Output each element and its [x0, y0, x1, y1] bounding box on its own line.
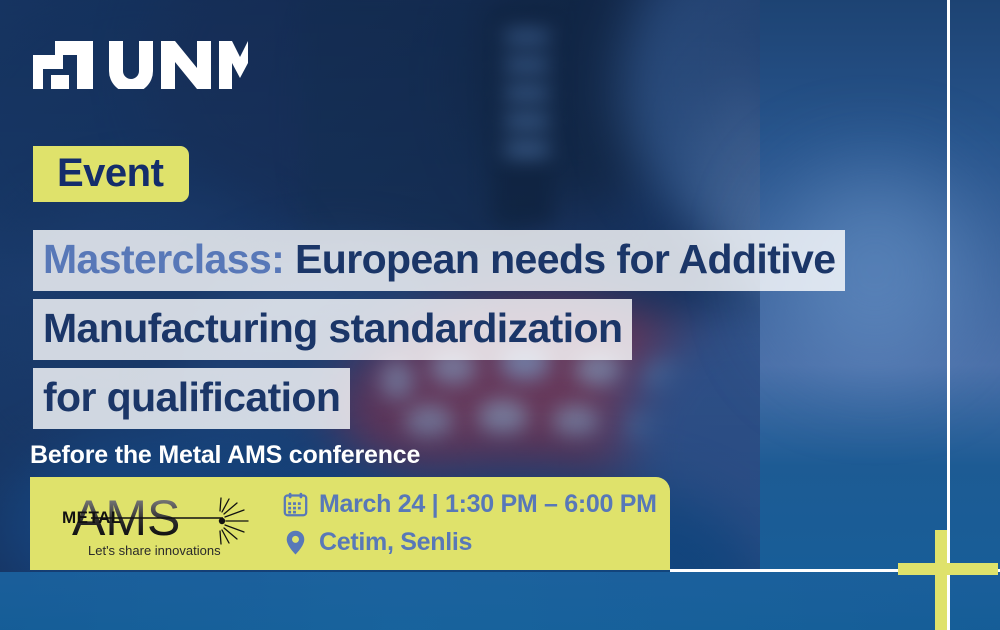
svg-text:Let's share innovations: Let's share innovations — [88, 543, 221, 558]
calendar-icon — [280, 490, 310, 520]
event-info: March 24 | 1:30 PM – 6:00 PM Cetim, Senl… — [280, 488, 657, 564]
headline-line-3: for qualification — [33, 368, 350, 429]
event-banner: Event Masterclass: European needs for Ad… — [0, 0, 1000, 630]
headline-accent: Masterclass: — [43, 236, 284, 282]
details-bar: AMS METAL Let's share innovations — [30, 477, 670, 570]
event-date-time: March 24 | 1:30 PM – 6:00 PM — [319, 490, 657, 519]
unm-logo — [33, 41, 248, 89]
headline-line-2: Manufacturing standardization — [33, 299, 632, 360]
headline: Masterclass: European needs for Additive… — [33, 230, 933, 437]
headline-line-1: Masterclass: European needs for Additive — [33, 230, 845, 291]
bottom-band — [0, 572, 1000, 630]
metal-ams-logo: AMS METAL Let's share innovations — [58, 483, 258, 563]
subtitle: Before the Metal AMS conference — [30, 441, 420, 470]
plus-mark-horizontal — [898, 563, 998, 575]
vertical-rule — [947, 0, 950, 630]
event-badge: Event — [33, 146, 189, 202]
info-row-date: March 24 | 1:30 PM – 6:00 PM — [280, 488, 657, 521]
event-location: Cetim, Senlis — [319, 528, 472, 557]
headline-line-1-rest: European needs for Additive — [284, 236, 835, 282]
info-row-location: Cetim, Senlis — [280, 526, 657, 559]
location-pin-icon — [280, 528, 310, 558]
plus-mark-vertical — [935, 530, 947, 630]
